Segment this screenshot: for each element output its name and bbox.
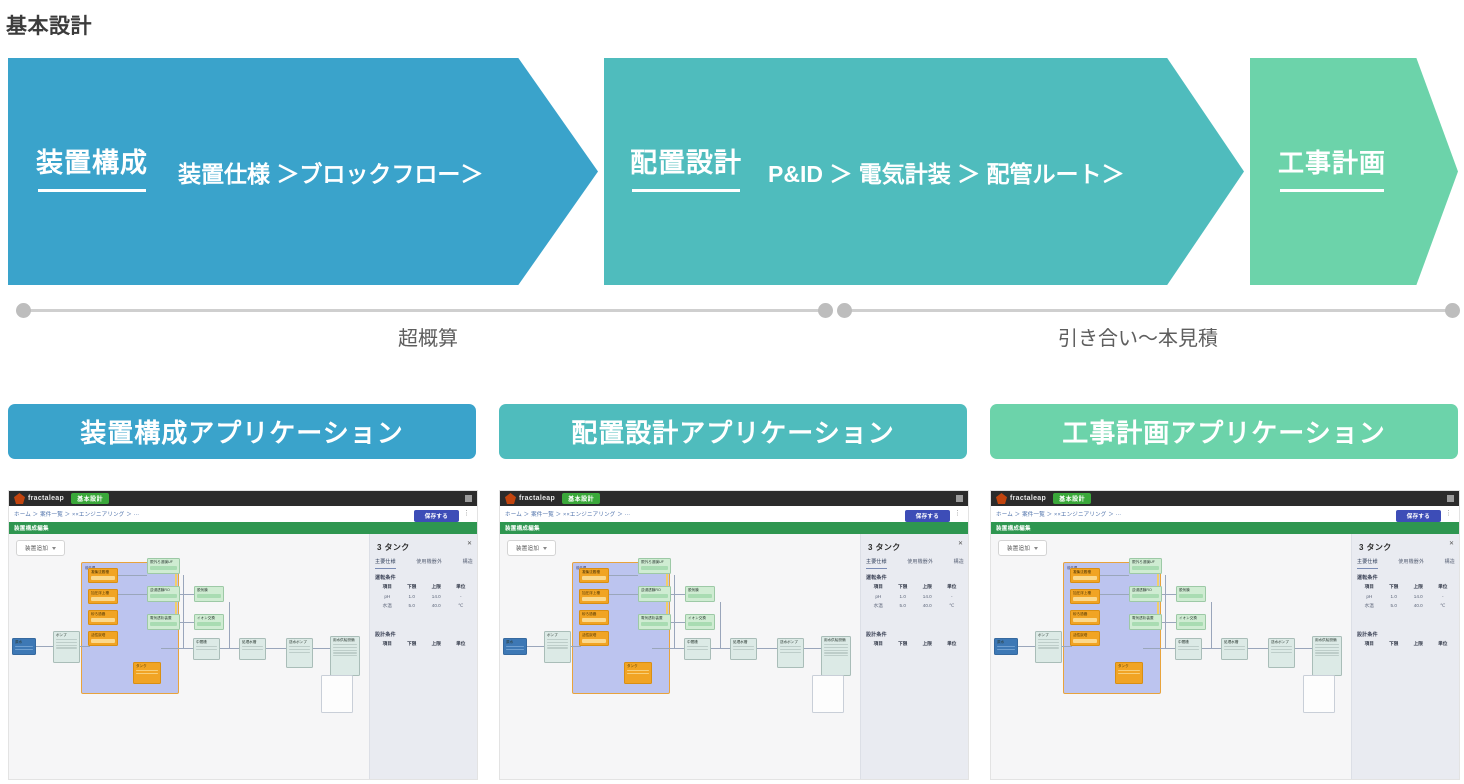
node-fields (545, 639, 570, 649)
column-header: 単位 (449, 584, 474, 590)
table-caption: 設計条件 (866, 631, 964, 638)
diagram-node-membrane-2[interactable]: 逆浸透膜RO (1129, 586, 1162, 602)
cell: 40.0 (1406, 603, 1431, 609)
diagram-node-membrane-3[interactable]: 電気透析装置 (147, 614, 180, 630)
breadcrumb[interactable]: ホーム ＞ 案件一覧 ＞ ××エンジニアリング ＞ ⋯ (996, 510, 1121, 518)
node-fields (778, 646, 803, 653)
cell: 14.0 (424, 594, 449, 599)
mini-section-bar: 装置構成編集 (9, 522, 477, 534)
diagram-node-membrane-5[interactable]: イオン交換 (685, 614, 715, 630)
node-title: 活性炭塔 (1071, 632, 1099, 639)
node-title: 用水供給設備 (331, 637, 359, 644)
diagram-node-membrane-2[interactable]: 逆浸透膜RO (638, 586, 671, 602)
diagram-edge (527, 646, 544, 647)
chevron-down-icon (52, 547, 56, 550)
inspector-title: 3 タンク (868, 542, 901, 553)
mini-section-label: 装置構成編集 (14, 524, 49, 532)
table-row: 水温 5.0 40.0 ℃ (375, 603, 473, 609)
node-fields (1222, 646, 1247, 650)
node-bar (1132, 566, 1159, 570)
diagram-node-membrane-5[interactable]: イオン交換 (1176, 614, 1206, 630)
node-bar (641, 622, 668, 626)
phase-steps-2: P&ID ＞ 電気計装 ＞ 配管ルート＞ (768, 155, 1125, 189)
column-header: 項目 (1357, 584, 1382, 590)
timeline-dot-mid-left (818, 303, 833, 318)
node-title: 用水供給設備 (1313, 637, 1341, 644)
diagram-node-pump-1[interactable]: ポンプ (544, 631, 571, 663)
node-bar (197, 622, 221, 626)
diagram-node-source[interactable]: 原水 (994, 638, 1018, 655)
app-card-heading-1: 装置構成アプリケーション (8, 404, 476, 459)
node-title: イオン交換 (1177, 615, 1205, 622)
add-equipment-label: 装置追加 (25, 544, 48, 552)
node-fields (685, 646, 710, 650)
inspector-tab-2[interactable]: 構造 (1445, 558, 1455, 569)
node-bar (688, 594, 712, 598)
hamburger-icon[interactable] (1447, 495, 1454, 502)
diagram-edge (757, 648, 777, 649)
cell: - (1431, 594, 1456, 599)
diagram-edge (1143, 648, 1175, 649)
inspector-tabs: 主要仕様 使用機器外 構造 (375, 558, 473, 569)
node-title: 限外ろ過膜UF (639, 559, 670, 566)
column-header: 下限 (1382, 584, 1407, 590)
diagram-note-box[interactable] (1303, 675, 1335, 713)
node-bar (582, 639, 606, 643)
diagram-node-unit-1[interactable]: 凝集沈殿槽 (579, 568, 609, 583)
hamburger-icon[interactable] (956, 495, 963, 502)
node-title: 中間槽 (685, 639, 710, 646)
column-header: 上限 (1406, 584, 1431, 590)
node-title: 原水 (995, 639, 1017, 646)
diagram-node-unit-5[interactable]: タンク (1115, 662, 1143, 684)
column-header: 単位 (1431, 584, 1456, 590)
inspector-panel[interactable]: 3 タンク ✕ 主要仕様 使用機器外 構造 運転条件 項目 下限 上限 単位 (369, 534, 477, 779)
diagram-node-unit-1[interactable]: 凝集沈殿槽 (88, 568, 118, 583)
mini-breadcrumb-bar: ホーム ＞ 案件一覧 ＞ ××エンジニアリング ＞ ⋯ 保存する ⋮ (991, 506, 1459, 523)
cell: ℃ (940, 603, 965, 609)
phase-chevron-3[interactable]: 工事計画 (1250, 58, 1458, 285)
node-title: 逆浸透膜RO (148, 587, 179, 594)
cell: 40.0 (915, 603, 940, 609)
cell: 水温 (375, 603, 400, 609)
inspector-table-design: 設計条件 項目 下限 上限 単位 (866, 631, 964, 651)
column-header: 項目 (866, 584, 891, 590)
inspector-tab-2[interactable]: 構造 (954, 558, 964, 569)
add-equipment-label: 装置追加 (1007, 544, 1030, 552)
fractaleap-logo-icon (14, 493, 25, 504)
node-title: イオン交換 (195, 615, 223, 622)
diagram-edge (1165, 575, 1166, 648)
node-title: 送水ポンプ (287, 639, 312, 646)
application-cards: 装置構成アプリケーション fractaleap 基本設計 ホーム ＞ 案件一覧 … (8, 404, 1458, 780)
diagram-edge (674, 575, 675, 648)
diagram-node-unit-3[interactable]: 砂ろ過器 (1070, 610, 1100, 625)
inspector-panel[interactable]: 3 タンク ✕ 主要仕様 使用機器外 構造 運転条件 項目 下限 上限 単位 (1351, 534, 1459, 779)
table-header-row: 項目 下限 上限 単位 (1357, 584, 1455, 590)
table-caption: 運転条件 (375, 574, 473, 581)
node-bar (1073, 618, 1097, 622)
node-title: 脱気膜 (1177, 587, 1205, 594)
table-header-row: 項目 下限 上限 単位 (866, 641, 964, 647)
node-bar (91, 597, 115, 601)
diagram-node-unit-3[interactable]: 砂ろ過器 (579, 610, 609, 625)
node-fields (822, 644, 850, 656)
phase-chevron-1[interactable]: 装置構成 装置仕様 ＞ブロックフロー＞ (8, 58, 598, 285)
diagram-node-unit-5[interactable]: タンク (624, 662, 652, 684)
node-bar (582, 576, 606, 580)
node-bar (641, 566, 668, 570)
diagram-node-unit-4[interactable]: 活性炭塔 (1070, 631, 1100, 646)
node-bar (1179, 622, 1203, 626)
app-screenshot-3[interactable]: fractaleap 基本設計 ホーム ＞ 案件一覧 ＞ ××エンジニアリング … (990, 490, 1460, 780)
mini-section-label: 装置構成編集 (996, 524, 1031, 532)
diagram-node-tank-c[interactable]: 送水ポンプ (1268, 638, 1295, 668)
cell: 5.0 (1382, 603, 1407, 609)
mini-section-bar: 装置構成編集 (500, 522, 968, 534)
timeline-dot-end (1445, 303, 1460, 318)
node-title: 限外ろ過膜UF (1130, 559, 1161, 566)
diagram-edge (1295, 648, 1312, 649)
diagram-node-membrane-4[interactable]: 脱気膜 (194, 586, 224, 602)
diagram-edge (266, 648, 286, 649)
node-title: ポンプ (545, 632, 570, 639)
cell: 5.0 (400, 603, 425, 609)
table-row: pH 1.0 14.0 - (375, 594, 473, 599)
column-header: 上限 (915, 641, 940, 647)
table-header-row: 項目 下限 上限 単位 (375, 641, 473, 647)
node-title: 限外ろ過膜UF (148, 559, 179, 566)
node-title: 電気透析装置 (148, 615, 179, 622)
column-header: 項目 (375, 641, 400, 647)
mini-phase-badge: 基本設計 (71, 493, 109, 504)
column-header: 項目 (1357, 641, 1382, 647)
cell: 水温 (866, 603, 891, 609)
node-title: 加圧浮上槽 (580, 590, 608, 597)
node-title: 逆浸透膜RO (1130, 587, 1161, 594)
inspector-tab-1[interactable]: 使用機器外 (1398, 558, 1424, 569)
node-title: 砂ろ過器 (1071, 611, 1099, 618)
node-title: タンク (625, 663, 651, 670)
phase-flow: 装置構成 装置仕様 ＞ブロックフロー＞ 配置設計 P&ID ＞ 電気計装 ＞ 配… (8, 58, 1458, 288)
diagram-note-box[interactable] (812, 675, 844, 713)
node-title: 中間槽 (194, 639, 219, 646)
app-card-1: 装置構成アプリケーション fractaleap 基本設計 ホーム ＞ 案件一覧 … (8, 404, 476, 780)
cell: 1.0 (891, 594, 916, 599)
diagram-node-tank-a[interactable]: 中間槽 (684, 638, 711, 660)
diagram-edge (36, 646, 53, 647)
cell: 14.0 (915, 594, 940, 599)
breadcrumb[interactable]: ホーム ＞ 案件一覧 ＞ ××エンジニアリング ＞ ⋯ (505, 510, 630, 518)
diagram-node-outlet[interactable]: 用水供給設備 (1312, 636, 1342, 676)
diagram-node-tank-c[interactable]: 送水ポンプ (777, 638, 804, 668)
diagram-edge (804, 648, 821, 649)
mini-section-bar: 装置構成編集 (991, 522, 1459, 534)
cell: 1.0 (1382, 594, 1407, 599)
more-options-icon[interactable]: ⋮ (1445, 511, 1452, 516)
table-header-row: 項目 下限 上限 単位 (1357, 641, 1455, 647)
node-title: 凝集沈殿槽 (580, 569, 608, 576)
node-bar (1073, 576, 1097, 580)
inspector-tab-0[interactable]: 主要仕様 (866, 558, 887, 569)
node-title: 電気透析装置 (639, 615, 670, 622)
cell: pH (1357, 594, 1382, 599)
node-fields (13, 646, 35, 650)
diagram-node-outlet[interactable]: 用水供給設備 (821, 636, 851, 676)
node-fields (1269, 646, 1294, 653)
node-title: イオン交換 (686, 615, 714, 622)
inspector-table-design: 設計条件 項目 下限 上限 単位 (1357, 631, 1455, 651)
node-title: 加圧浮上槽 (1071, 590, 1099, 597)
app-card-3: 工事計画アプリケーション fractaleap 基本設計 ホーム ＞ 案件一覧 … (990, 404, 1458, 780)
diagram-edge (1211, 602, 1212, 648)
column-header: 上限 (424, 641, 449, 647)
node-title: 電気透析装置 (1130, 615, 1161, 622)
inspector-tab-1[interactable]: 使用機器外 (907, 558, 933, 569)
node-bar (582, 618, 606, 622)
close-icon[interactable]: ✕ (958, 540, 963, 547)
mini-phase-badge: 基本設計 (1053, 493, 1091, 504)
chevron-down-icon (543, 547, 547, 550)
diagram-node-pump-1[interactable]: ポンプ (53, 631, 80, 663)
diagram-node-membrane-4[interactable]: 脱気膜 (1176, 586, 1206, 602)
diagram-edge (1018, 646, 1035, 647)
app-screenshot-1[interactable]: fractaleap 基本設計 ホーム ＞ 案件一覧 ＞ ××エンジニアリング … (8, 490, 478, 780)
node-title: 原水 (13, 639, 35, 646)
cell: ℃ (449, 603, 474, 609)
mini-breadcrumb-bar: ホーム ＞ 案件一覧 ＞ ××エンジニアリング ＞ ⋯ 保存する ⋮ (500, 506, 968, 523)
phase-name-2: 配置設計 (630, 149, 742, 195)
node-title: 処理水槽 (731, 639, 756, 646)
node-bar (1132, 622, 1159, 626)
node-bar (150, 622, 177, 626)
fractaleap-logo-icon (505, 493, 516, 504)
inspector-title: 3 タンク (1359, 542, 1392, 553)
diagram-node-membrane-3[interactable]: 電気透析装置 (1129, 614, 1162, 630)
node-title: タンク (1116, 663, 1142, 670)
chevron-down-icon (1034, 547, 1038, 550)
mini-breadcrumb-bar: ホーム ＞ 案件一覧 ＞ ××エンジニアリング ＞ ⋯ 保存する ⋮ (9, 506, 477, 523)
table-header-row: 項目 下限 上限 単位 (375, 584, 473, 590)
node-bar (1132, 594, 1159, 598)
column-header: 下限 (400, 641, 425, 647)
more-options-icon[interactable]: ⋮ (954, 511, 961, 516)
fractaleap-logo-icon (996, 493, 1007, 504)
column-header: 単位 (449, 641, 474, 647)
node-title: 活性炭塔 (89, 632, 117, 639)
table-caption: 運転条件 (866, 574, 964, 581)
diagram-node-membrane-1[interactable]: 限外ろ過膜UF (638, 558, 671, 574)
mini-logo-text: fractaleap (519, 495, 555, 502)
table-row: 水温 5.0 40.0 ℃ (1357, 603, 1455, 609)
column-header: 上限 (424, 584, 449, 590)
column-header: 上限 (915, 584, 940, 590)
diagram-node-membrane-1[interactable]: 限外ろ過膜UF (1129, 558, 1162, 574)
close-icon[interactable]: ✕ (467, 540, 472, 547)
node-title: 脱気膜 (195, 587, 223, 594)
node-title: 加圧浮上槽 (89, 590, 117, 597)
column-header: 単位 (1431, 641, 1456, 647)
cell: ℃ (1431, 603, 1456, 609)
node-bar (1073, 597, 1097, 601)
mini-logo-text: fractaleap (1010, 495, 1046, 502)
diagram-node-tank-c[interactable]: 送水ポンプ (286, 638, 313, 668)
diagram-node-unit-4[interactable]: 活性炭塔 (88, 631, 118, 646)
node-fields (504, 646, 526, 650)
save-button[interactable]: 保存する (1396, 510, 1441, 522)
column-header: 項目 (375, 584, 400, 590)
diagram-edge (571, 646, 581, 647)
app-card-2: 配置設計アプリケーション fractaleap 基本設計 ホーム ＞ 案件一覧 … (499, 404, 967, 780)
node-title: 活性炭塔 (580, 632, 608, 639)
cell: 40.0 (424, 603, 449, 609)
node-fields (1313, 644, 1341, 656)
node-bar (1179, 594, 1203, 598)
node-fields (287, 646, 312, 653)
column-header: 項目 (866, 641, 891, 647)
cell: 水温 (1357, 603, 1382, 609)
timeline-label-1: 超概算 (258, 322, 598, 351)
diagram-edge (1202, 648, 1221, 649)
node-fields (331, 644, 359, 656)
add-equipment-button[interactable]: 装置追加 (507, 540, 556, 556)
diagram-node-unit-2[interactable]: 加圧浮上槽 (88, 589, 118, 604)
inspector-title: 3 タンク (377, 542, 410, 553)
inspector-tab-0[interactable]: 主要仕様 (375, 558, 396, 569)
node-fields (1116, 670, 1142, 674)
diagram-note-box[interactable] (321, 675, 353, 713)
table-row: 水温 5.0 40.0 ℃ (866, 603, 964, 609)
node-title: 処理水槽 (240, 639, 265, 646)
add-equipment-button[interactable]: 装置追加 (16, 540, 65, 556)
inspector-table-operating: 運転条件 項目 下限 上限 単位 pH 1.0 14.0 - (866, 574, 964, 613)
diagram-node-unit-1[interactable]: 凝集沈殿槽 (1070, 568, 1100, 583)
diagram-node-membrane-4[interactable]: 脱気膜 (685, 586, 715, 602)
diagram-node-source[interactable]: 原水 (12, 638, 36, 655)
diagram-node-outlet[interactable]: 用水供給設備 (330, 636, 360, 676)
hamburger-icon[interactable] (465, 495, 472, 502)
inspector-tab-2[interactable]: 構造 (463, 558, 473, 569)
diagram-node-tank-b[interactable]: 処理水槽 (239, 638, 266, 660)
node-fields (54, 639, 79, 649)
table-caption: 設計条件 (1357, 631, 1455, 638)
diagram-node-source[interactable]: 原水 (503, 638, 527, 655)
node-bar (91, 618, 115, 622)
node-fields (240, 646, 265, 650)
inspector-tab-0[interactable]: 主要仕様 (1357, 558, 1378, 569)
column-header: 下限 (1382, 641, 1407, 647)
breadcrumb[interactable]: ホーム ＞ 案件一覧 ＞ ××エンジニアリング ＞ ⋯ (14, 510, 139, 518)
phase-name-1: 装置構成 (36, 149, 148, 195)
slide-root: 基本設計 装置構成 装置仕様 ＞ブロックフロー＞ 配置設計 P&ID ＞ 電気計… (0, 0, 1464, 784)
mini-section-label: 装置構成編集 (505, 524, 540, 532)
diagram-edge (313, 648, 330, 649)
inspector-tabs: 主要仕様 使用機器外 構造 (1357, 558, 1455, 569)
app-screenshot-2[interactable]: fractaleap 基本設計 ホーム ＞ 案件一覧 ＞ ××エンジニアリング … (499, 490, 969, 780)
node-fields (995, 646, 1017, 650)
node-title: ポンプ (1036, 632, 1061, 639)
save-button[interactable]: 保存する (414, 510, 459, 522)
more-options-icon[interactable]: ⋮ (463, 511, 470, 516)
node-title: タンク (134, 663, 160, 670)
diagram-node-tank-b[interactable]: 処理水槽 (730, 638, 757, 660)
close-icon[interactable]: ✕ (1449, 540, 1454, 547)
diagram-edge (80, 646, 90, 647)
app-card-heading-3: 工事計画アプリケーション (990, 404, 1458, 459)
node-title: 原水 (504, 639, 526, 646)
table-caption: 運転条件 (1357, 574, 1455, 581)
diagram-edge (1248, 648, 1268, 649)
inspector-tab-1[interactable]: 使用機器外 (416, 558, 442, 569)
timeline-dot-mid-right (837, 303, 852, 318)
node-title: 凝集沈殿槽 (1071, 569, 1099, 576)
add-equipment-button[interactable]: 装置追加 (998, 540, 1047, 556)
node-bar (197, 594, 221, 598)
diagram-node-unit-2[interactable]: 加圧浮上槽 (1070, 589, 1100, 604)
diagram-node-membrane-3[interactable]: 電気透析装置 (638, 614, 671, 630)
diagram-edge (118, 575, 147, 576)
node-fields (731, 646, 756, 650)
diagram-edge (1062, 646, 1072, 647)
diagram-node-membrane-5[interactable]: イオン交換 (194, 614, 224, 630)
table-row: pH 1.0 14.0 - (866, 594, 964, 599)
diagram-node-unit-3[interactable]: 砂ろ過器 (88, 610, 118, 625)
column-header: 下限 (891, 641, 916, 647)
diagram-node-tank-a[interactable]: 中間槽 (193, 638, 220, 660)
mini-topbar: fractaleap 基本設計 (991, 491, 1459, 506)
diagram-node-tank-a[interactable]: 中間槽 (1175, 638, 1202, 660)
diagram-edge (720, 602, 721, 648)
timeline-label-2: 引き合い〜本見積 (968, 322, 1308, 351)
node-title: 逆浸透膜RO (639, 587, 670, 594)
inspector-panel[interactable]: 3 タンク ✕ 主要仕様 使用機器外 構造 運転条件 項目 下限 上限 単位 (860, 534, 968, 779)
node-bar (91, 576, 115, 580)
save-button[interactable]: 保存する (905, 510, 950, 522)
cell: 5.0 (891, 603, 916, 609)
column-header: 単位 (940, 641, 965, 647)
diagram-edge (183, 575, 184, 648)
node-title: 送水ポンプ (1269, 639, 1294, 646)
diagram-node-tank-b[interactable]: 処理水槽 (1221, 638, 1248, 660)
diagram-node-membrane-2[interactable]: 逆浸透膜RO (147, 586, 180, 602)
phase-chevron-2[interactable]: 配置設計 P&ID ＞ 電気計装 ＞ 配管ルート＞ (604, 58, 1244, 285)
diagram-node-unit-5[interactable]: タンク (133, 662, 161, 684)
diagram-node-unit-4[interactable]: 活性炭塔 (579, 631, 609, 646)
diagram-node-pump-1[interactable]: ポンプ (1035, 631, 1062, 663)
node-fields (194, 646, 219, 650)
column-header: 下限 (400, 584, 425, 590)
mini-topbar: fractaleap 基本設計 (9, 491, 477, 506)
phase-name-3: 工事計画 (1278, 149, 1386, 194)
phase-timeline: 超概算 引き合い〜本見積 (8, 300, 1458, 360)
node-fields (1036, 639, 1061, 649)
table-header-row: 項目 下限 上限 単位 (866, 584, 964, 590)
node-title: 脱気膜 (686, 587, 714, 594)
app-card-heading-2: 配置設計アプリケーション (499, 404, 967, 459)
diagram-node-unit-2[interactable]: 加圧浮上槽 (579, 589, 609, 604)
mini-logo-text: fractaleap (28, 495, 64, 502)
diagram-edge (711, 648, 730, 649)
diagram-edge (609, 594, 638, 595)
cell: 1.0 (400, 594, 425, 599)
timeline-segment-2 (846, 309, 1454, 312)
cell: 14.0 (1406, 594, 1431, 599)
node-bar (582, 597, 606, 601)
cell: pH (375, 594, 400, 599)
diagram-edge (220, 648, 239, 649)
diagram-node-membrane-1[interactable]: 限外ろ過膜UF (147, 558, 180, 574)
node-bar (641, 594, 668, 598)
